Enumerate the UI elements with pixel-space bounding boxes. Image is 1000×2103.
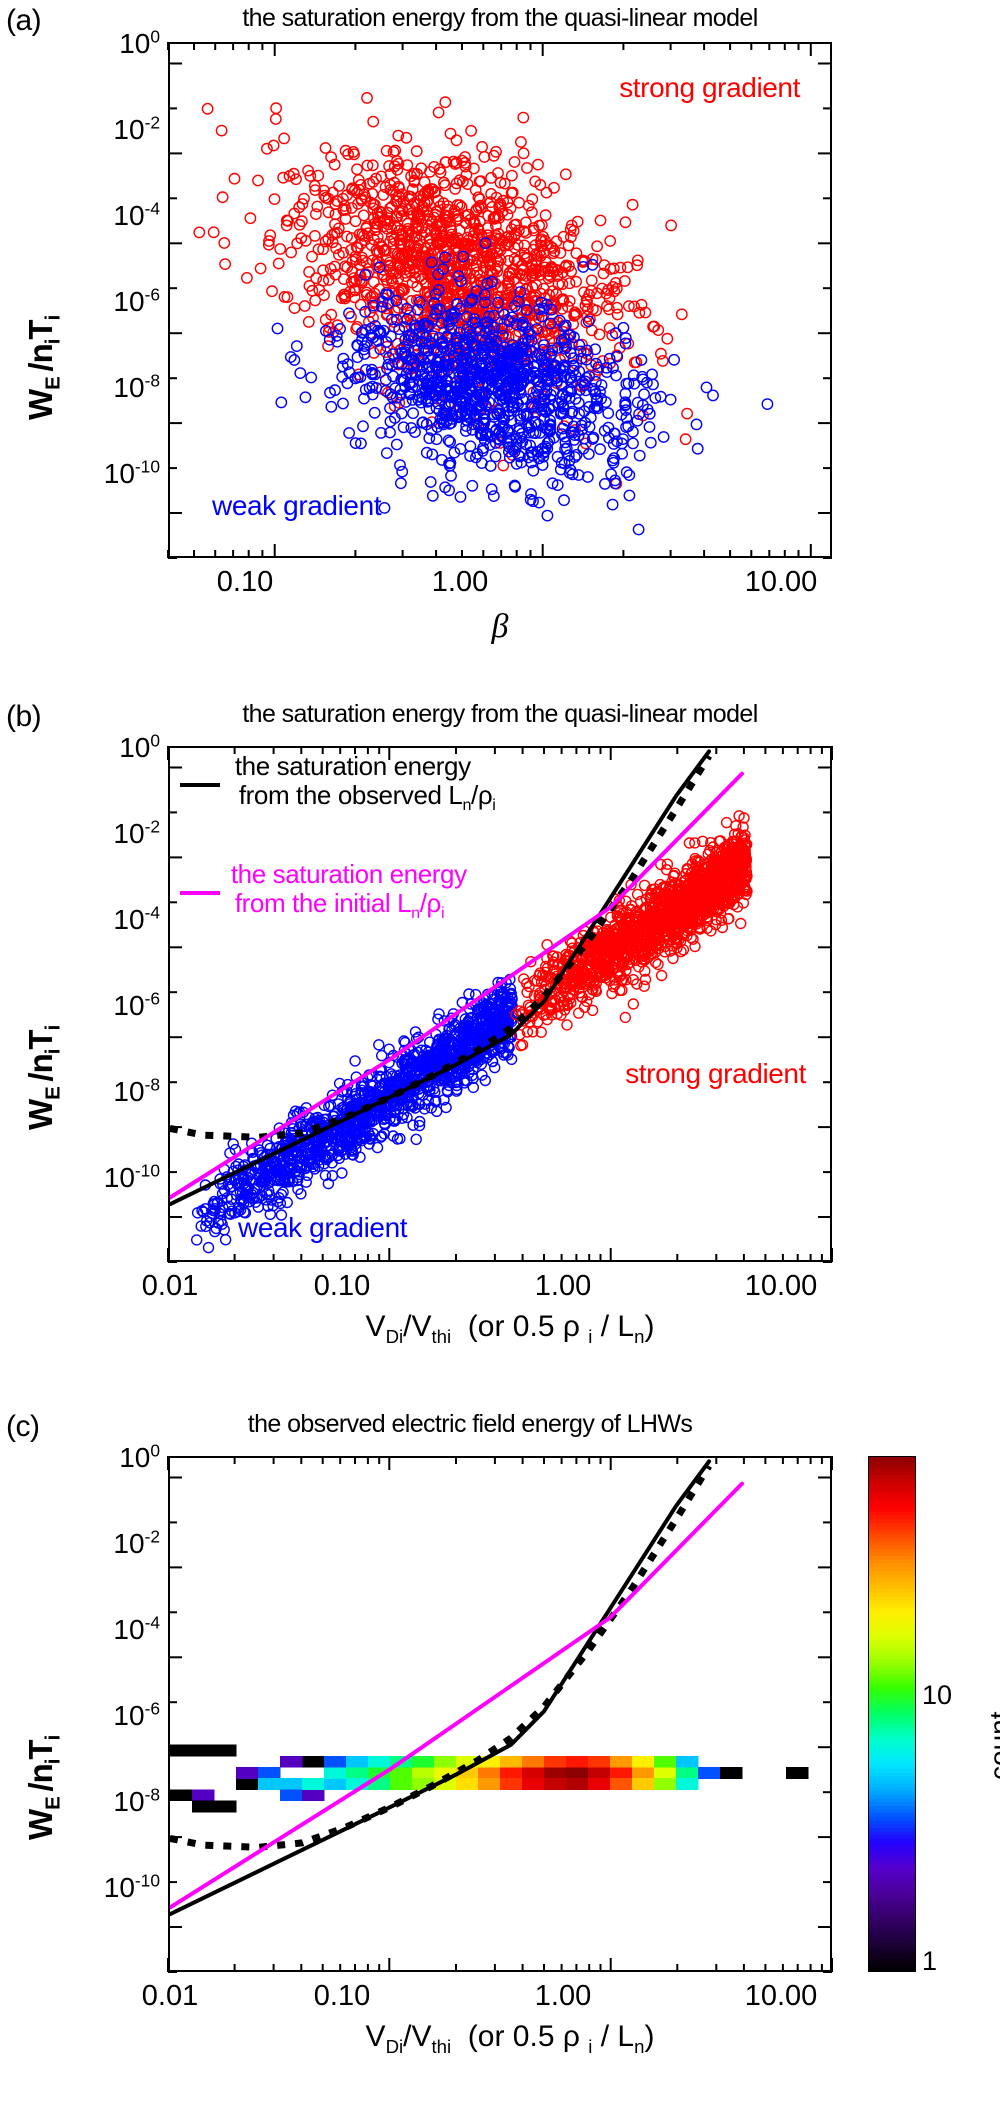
legend-initial-line1: the saturation energy [231,859,467,889]
panel-a-ytick-3: 10-6 [40,286,160,318]
panel-b-legend-initial: the saturation energy from the initial L… [178,860,467,917]
panel-a-ylabel: WE /niTi [22,316,60,420]
panel-b-anno-strong: strong gradient [625,1058,806,1090]
panel-c-ytick-3: 10-6 [40,1700,160,1732]
legend-line-magenta-icon [178,889,222,897]
panel-a-ytick-5: 10-10 [30,458,160,490]
panel-c-ytick-5: 10-10 [30,1872,160,1904]
panel-a-ytick-0: 100 [40,28,160,60]
panel-b-legend-observed: the saturation energy from the observed … [178,752,495,809]
legend-observed-line2: from the observed L [239,780,463,810]
panel-b-anno-weak: weak gradient [238,1212,407,1244]
panel-b-ytick-1: 10-2 [40,818,160,850]
panel-c-xtick-0: 0.01 [110,1980,230,2013]
panel-b-xtick-1: 0.10 [282,1270,402,1303]
panel-c-ylabel: WE /niTi [22,1736,60,1840]
panel-a: (a) the saturation energy from the quasi… [0,0,1000,680]
panel-a-letter: (a) [6,4,41,38]
panel-b-xtick-0: 0.01 [110,1270,230,1303]
panel-b-title: the saturation energy from the quasi-lin… [120,700,880,729]
panel-c-heatmap [170,1458,830,1970]
panel-b-xtick-2: 1.00 [503,1270,623,1303]
panel-b-ytick-3: 10-6 [40,990,160,1022]
panel-b-ytick-2: 10-4 [40,904,160,936]
panel-c-title: the observed electric field energy of LH… [120,1410,820,1439]
panel-a-title: the saturation energy from the quasi-lin… [120,4,880,33]
panel-a-xtick-2: 10.00 [716,566,846,599]
panel-c: (c) the observed electric field energy o… [0,1400,1000,2103]
panel-a-ytick-1: 10-2 [40,114,160,146]
panel-a-xtick-1: 1.00 [400,566,520,599]
colorbar-gradient [869,1457,915,1971]
panel-b-ytick-5: 10-10 [30,1162,160,1194]
colorbar-tick-1: 1 [922,1946,937,1977]
colorbar-title: count [984,1712,1000,1781]
panel-b-ylabel: WE /niTi [22,1026,60,1130]
panel-c-plot-area [168,1456,832,1972]
panel-c-ytick-2: 10-4 [40,1614,160,1646]
panel-c-xtick-2: 1.00 [503,1980,623,2013]
panel-a-plot-area: strong gradient weak gradient [168,42,832,558]
panel-b-letter: (b) [6,700,41,734]
panel-c-ytick-1: 10-2 [40,1528,160,1560]
panel-a-anno-strong: strong gradient [619,72,800,104]
panel-a-anno-weak: weak gradient [212,490,381,522]
panel-a-scatter [170,44,830,556]
panel-b: (b) the saturation energy from the quasi… [0,690,1000,1390]
legend-observed-line1: the saturation energy [235,751,471,781]
legend-initial-line2: from the initial L [235,888,411,918]
panel-b-ytick-0: 100 [40,732,160,764]
panel-b-scatter [170,748,830,1260]
panel-a-ytick-2: 10-4 [40,200,160,232]
panel-c-letter: (c) [6,1410,39,1444]
panel-a-xtick-0: 0.10 [185,566,305,599]
panel-c-xlabel: VDi/Vthi (or 0.5 ρ i / Ln) [240,2020,780,2054]
legend-line-black-icon [178,781,222,789]
panel-c-xtick-3: 10.00 [716,1980,846,2013]
panel-b-xlabel: VDi/Vthi (or 0.5 ρ i / Ln) [240,1310,780,1344]
panel-a-xlabel: β [400,608,600,646]
panel-c-xtick-1: 0.10 [282,1980,402,2013]
panel-b-xtick-3: 10.00 [716,1270,846,1303]
colorbar [868,1456,916,1972]
panel-c-ytick-0: 100 [40,1442,160,1474]
panel-b-plot-area: the saturation energy from the observed … [168,746,832,1262]
colorbar-tick-10: 10 [922,1680,952,1711]
